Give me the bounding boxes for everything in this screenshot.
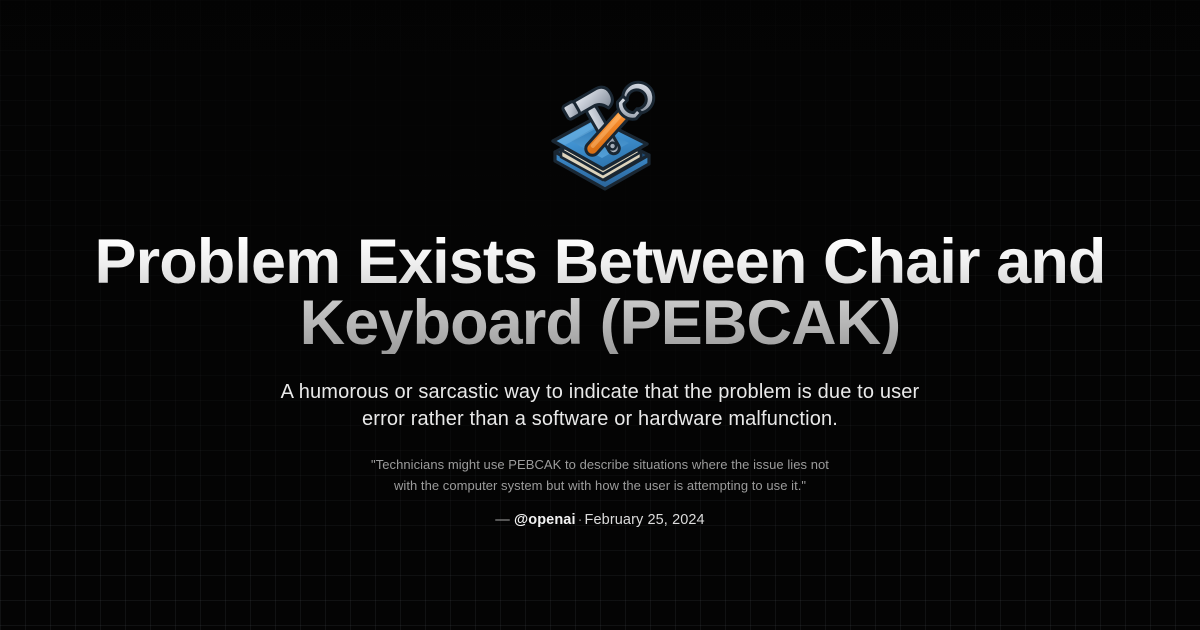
- attribution-dash: —: [495, 512, 510, 528]
- attribution-separator: ·: [576, 512, 585, 528]
- attribution-date: February 25, 2024: [585, 512, 705, 528]
- page-title: Problem Exists Between Chair and Keyboar…: [80, 232, 1120, 354]
- title-line-1: Problem Exists Between Chair and: [80, 232, 1120, 293]
- definition-subtitle: A humorous or sarcastic way to indicate …: [260, 379, 940, 433]
- card-content: Problem Exists Between Chair and Keyboar…: [0, 0, 1200, 630]
- example-quote: "Technicians might use PEBCAK to describ…: [365, 455, 835, 496]
- title-line-2: Keyboard (PEBCAK): [80, 293, 1120, 354]
- attribution: — @openai·February 25, 2024: [495, 512, 704, 528]
- pebcak-definition-card: Problem Exists Between Chair and Keyboar…: [0, 0, 1200, 630]
- attribution-handle[interactable]: @openai: [514, 512, 576, 528]
- book-and-tools-icon: [540, 78, 660, 196]
